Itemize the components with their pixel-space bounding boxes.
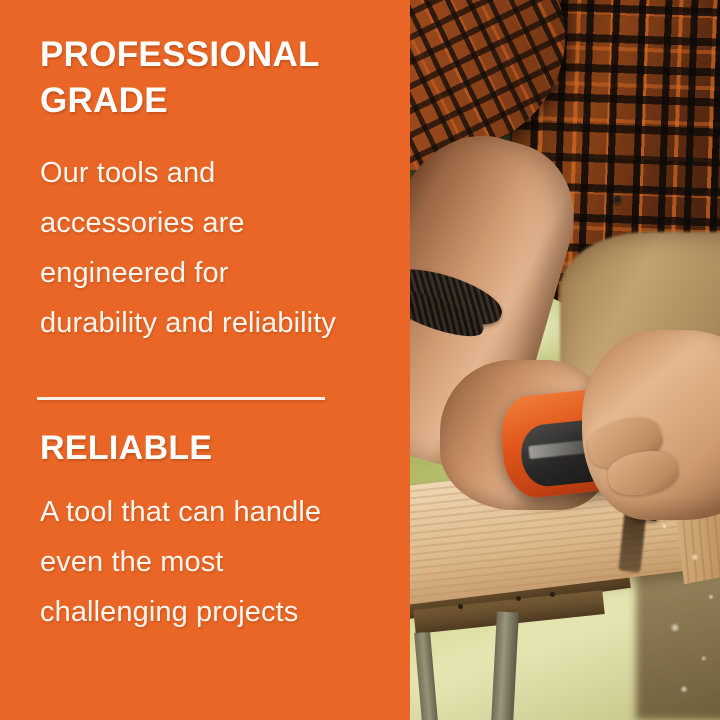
sawdust-particles: [648, 500, 720, 720]
headline-professional-grade: PROFESSIONAL GRADE: [40, 32, 370, 124]
body-professional-grade: Our tools and accessories are engineered…: [40, 148, 350, 348]
copy-inner: PROFESSIONAL GRADE Our tools and accesso…: [40, 0, 370, 720]
sawhorse-bolt: [458, 604, 463, 609]
sawhorse-bolt: [516, 596, 521, 601]
sawhorse-bolt: [550, 592, 555, 597]
copy-panel: PROFESSIONAL GRADE Our tools and accesso…: [0, 0, 410, 720]
headline-reliable: RELIABLE: [40, 427, 370, 469]
promo-banner: PROFESSIONAL GRADE Our tools and accesso…: [0, 0, 720, 720]
product-photo: [410, 0, 720, 720]
photo-stage: [410, 0, 720, 720]
section-divider: [37, 397, 325, 400]
body-reliable: A tool that can handle even the most cha…: [40, 487, 350, 637]
shirt-button: [613, 195, 622, 204]
